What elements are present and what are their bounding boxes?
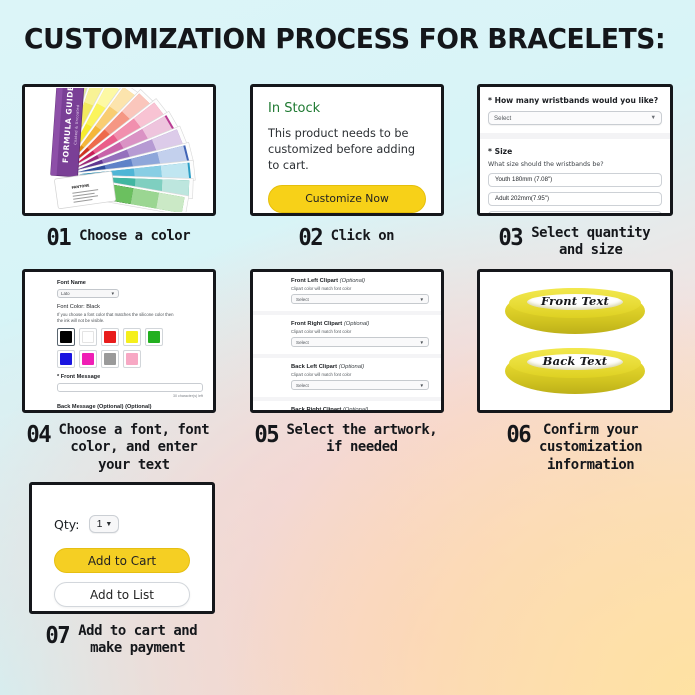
stock-status: In Stock <box>268 101 426 116</box>
step-04-number: 04 <box>26 422 50 447</box>
product-description: This product needs to be customized befo… <box>268 126 426 174</box>
qty-stepper[interactable]: 1 ▼ <box>89 515 119 533</box>
front-chars-left: 30 character(s) left <box>57 394 203 398</box>
color-swatch-red[interactable] <box>101 328 119 346</box>
color-swatch-green[interactable] <box>145 328 163 346</box>
card-add-to-cart: Qty: 1 ▼ Add to Cart Add to List <box>29 482 215 614</box>
step-04-text: Choose a font, font color, and enter you… <box>59 422 210 474</box>
clipart-divider <box>253 311 441 315</box>
size-label: * Size <box>488 147 662 157</box>
step-02: In Stock This product needs to be custom… <box>250 84 444 247</box>
back-left-clipart-title: Back Left Clipart <box>291 364 339 370</box>
wristband-back: Back Text <box>505 348 645 394</box>
quantity-row: Qty: 1 ▼ <box>54 515 190 533</box>
add-to-cart-button[interactable]: Add to Cart <box>54 548 190 573</box>
step-03-caption: 03 Select quantity and size <box>477 225 673 260</box>
clipart-divider <box>253 354 441 358</box>
chevron-down-icon: ▼ <box>419 383 424 388</box>
step-03-number: 03 <box>498 225 522 250</box>
front-left-clipart-label: Front Left Clipart (Optional) <box>291 278 429 284</box>
step-05-number: 05 <box>254 422 278 447</box>
font-name-select[interactable]: Lato ▼ <box>57 289 119 298</box>
color-swatch-pink[interactable] <box>123 350 141 368</box>
color-swatch-magenta[interactable] <box>79 350 97 368</box>
card-quantity-size: * How many wristbands would you like? Se… <box>477 84 673 216</box>
front-left-clipart-optional: (Optional) <box>340 278 365 284</box>
step-07-caption: 07 Add to cart and make payment <box>29 623 215 658</box>
front-right-clipart-title: Front Right Clipart <box>291 321 344 327</box>
color-swatch-row-1 <box>57 328 203 346</box>
step-03: * How many wristbands would you like? Se… <box>477 84 673 260</box>
step-05: Front Left Clipart (Optional) Clipart co… <box>250 269 444 457</box>
font-color-value: Black <box>86 304 100 310</box>
step-03-text: Select quantity and size <box>531 225 650 260</box>
step-04-caption: 04 Choose a font, font color, and enter … <box>22 422 216 474</box>
chevron-down-icon: ▼ <box>419 297 424 302</box>
clipart-block-front-right: Front Right Clipart (Optional) Clipart c… <box>291 321 429 347</box>
back-left-clipart-optional: (Optional) <box>339 364 364 370</box>
step-01-number: 01 <box>46 225 70 250</box>
back-left-clipart-hint: Clipart color will match font color <box>291 372 429 377</box>
card-color-guide[interactable]: FORMULA GUIDE Coated & Uncoated PANTONE <box>22 84 216 216</box>
qty-value: 1 <box>97 518 103 530</box>
size-option-large[interactable]: Large 210mm (8.26") <box>488 211 662 216</box>
quantity-label: * How many wristbands would you like? <box>488 96 662 106</box>
wristband-back-text: Back Text <box>505 354 645 368</box>
clipart-block-back-left: Back Left Clipart (Optional) Clipart col… <box>291 364 429 390</box>
step-07: Qty: 1 ▼ Add to Cart Add to List 07 Add … <box>29 482 215 658</box>
customize-now-button[interactable]: Customize Now <box>268 185 426 213</box>
front-left-clipart-hint: Clipart color will match font color <box>291 286 429 291</box>
back-left-clipart-select[interactable]: Select▼ <box>291 380 429 390</box>
font-color-label-text: Font Color: <box>57 304 85 310</box>
chevron-down-icon: ▼ <box>105 521 112 528</box>
size-option-youth[interactable]: Youth 180mm (7.08") <box>488 173 662 187</box>
card-in-stock: In Stock This product needs to be custom… <box>250 84 444 216</box>
front-left-clipart-select[interactable]: Select▼ <box>291 294 429 304</box>
color-swatch-row-2 <box>57 350 203 368</box>
step-05-caption: 05 Select the artwork, if needed <box>250 422 444 457</box>
step-02-text: Click on <box>331 228 394 245</box>
card-clipart: Front Left Clipart (Optional) Clipart co… <box>250 269 444 413</box>
step-04: Font Name Lato ▼ Font Color: Black If yo… <box>22 269 216 474</box>
front-right-clipart-hint: Clipart color will match font color <box>291 329 429 334</box>
font-color-label: Font Color: Black <box>57 304 203 310</box>
step-06: Front Text Back Text 06 Confirm your cus… <box>477 269 673 474</box>
step-02-number: 02 <box>299 225 323 250</box>
back-message-label: Back Message (Optional) (Optional) <box>57 404 203 410</box>
front-right-clipart-optional: (Optional) <box>344 321 369 327</box>
back-right-clipart-title: Back Right Clipart <box>291 407 343 413</box>
back-left-clipart-label: Back Left Clipart (Optional) <box>291 364 429 370</box>
qty-label: Qty: <box>54 517 79 532</box>
color-swatch-yellow[interactable] <box>123 328 141 346</box>
color-swatch-blue[interactable] <box>57 350 75 368</box>
color-swatch-black[interactable] <box>57 328 75 346</box>
chevron-down-icon: ▼ <box>419 340 424 345</box>
chevron-down-icon: ▼ <box>650 115 656 121</box>
step-06-number: 06 <box>506 422 530 447</box>
color-swatch-white[interactable] <box>79 328 97 346</box>
quantity-select[interactable]: Select ▼ <box>488 111 662 125</box>
wristband-front-text: Front Text <box>505 294 645 308</box>
front-message-label: * Front Message <box>57 374 203 380</box>
size-option-adult[interactable]: Adult 202mm(7.95") <box>488 192 662 206</box>
front-message-input[interactable] <box>57 383 203 392</box>
step-01-text: Choose a color <box>79 228 190 245</box>
step-01: FORMULA GUIDE Coated & Uncoated PANTONE … <box>22 84 216 247</box>
size-sublabel: What size should the wristbands be? <box>488 161 662 168</box>
front-right-clipart-value: Select <box>296 340 309 345</box>
chevron-down-icon: ▼ <box>111 291 115 296</box>
front-left-clipart-title: Front Left Clipart <box>291 278 340 284</box>
color-swatch-gray[interactable] <box>101 350 119 368</box>
step-06-caption: 06 Confirm your customization informatio… <box>477 422 673 474</box>
font-name-value: Lato <box>61 291 70 296</box>
step-02-caption: 02 Click on <box>250 225 444 247</box>
front-right-clipart-select[interactable]: Select▼ <box>291 337 429 347</box>
section-divider <box>480 133 670 139</box>
clipart-block-front-left: Front Left Clipart (Optional) Clipart co… <box>291 278 429 304</box>
card-wristband-preview: Front Text Back Text <box>477 269 673 413</box>
step-01-caption: 01 Choose a color <box>22 225 216 247</box>
back-left-clipart-value: Select <box>296 383 309 388</box>
clipart-divider <box>253 397 441 401</box>
back-right-clipart-optional: (Optional) <box>343 407 368 413</box>
step-06-text: Confirm your customization information <box>539 422 642 474</box>
font-name-label: Font Name <box>57 280 203 286</box>
quantity-select-value: Select <box>494 115 511 122</box>
wristband-front: Front Text <box>505 288 645 334</box>
page-title: CUSTOMIZATION PROCESS FOR BRACELETS: <box>24 23 651 55</box>
font-color-hint: If you choose a font color that matches … <box>57 312 175 324</box>
add-to-list-button[interactable]: Add to List <box>54 582 190 607</box>
step-07-text: Add to cart and make payment <box>78 623 197 658</box>
pantone-fan-deck-image: FORMULA GUIDE Coated & Uncoated PANTONE <box>25 87 213 213</box>
clipart-block-back-right: Back Right Clipart (Optional) Clipart co… <box>291 407 429 413</box>
card-font-color-text: Font Name Lato ▼ Font Color: Black If yo… <box>22 269 216 413</box>
step-07-number: 07 <box>45 623 69 648</box>
front-left-clipart-value: Select <box>296 297 309 302</box>
step-05-text: Select the artwork, if needed <box>287 422 438 457</box>
back-right-clipart-label: Back Right Clipart (Optional) <box>291 407 429 413</box>
fan-deck-svg: FORMULA GUIDE Coated & Uncoated PANTONE <box>29 88 209 212</box>
front-right-clipart-label: Front Right Clipart (Optional) <box>291 321 429 327</box>
